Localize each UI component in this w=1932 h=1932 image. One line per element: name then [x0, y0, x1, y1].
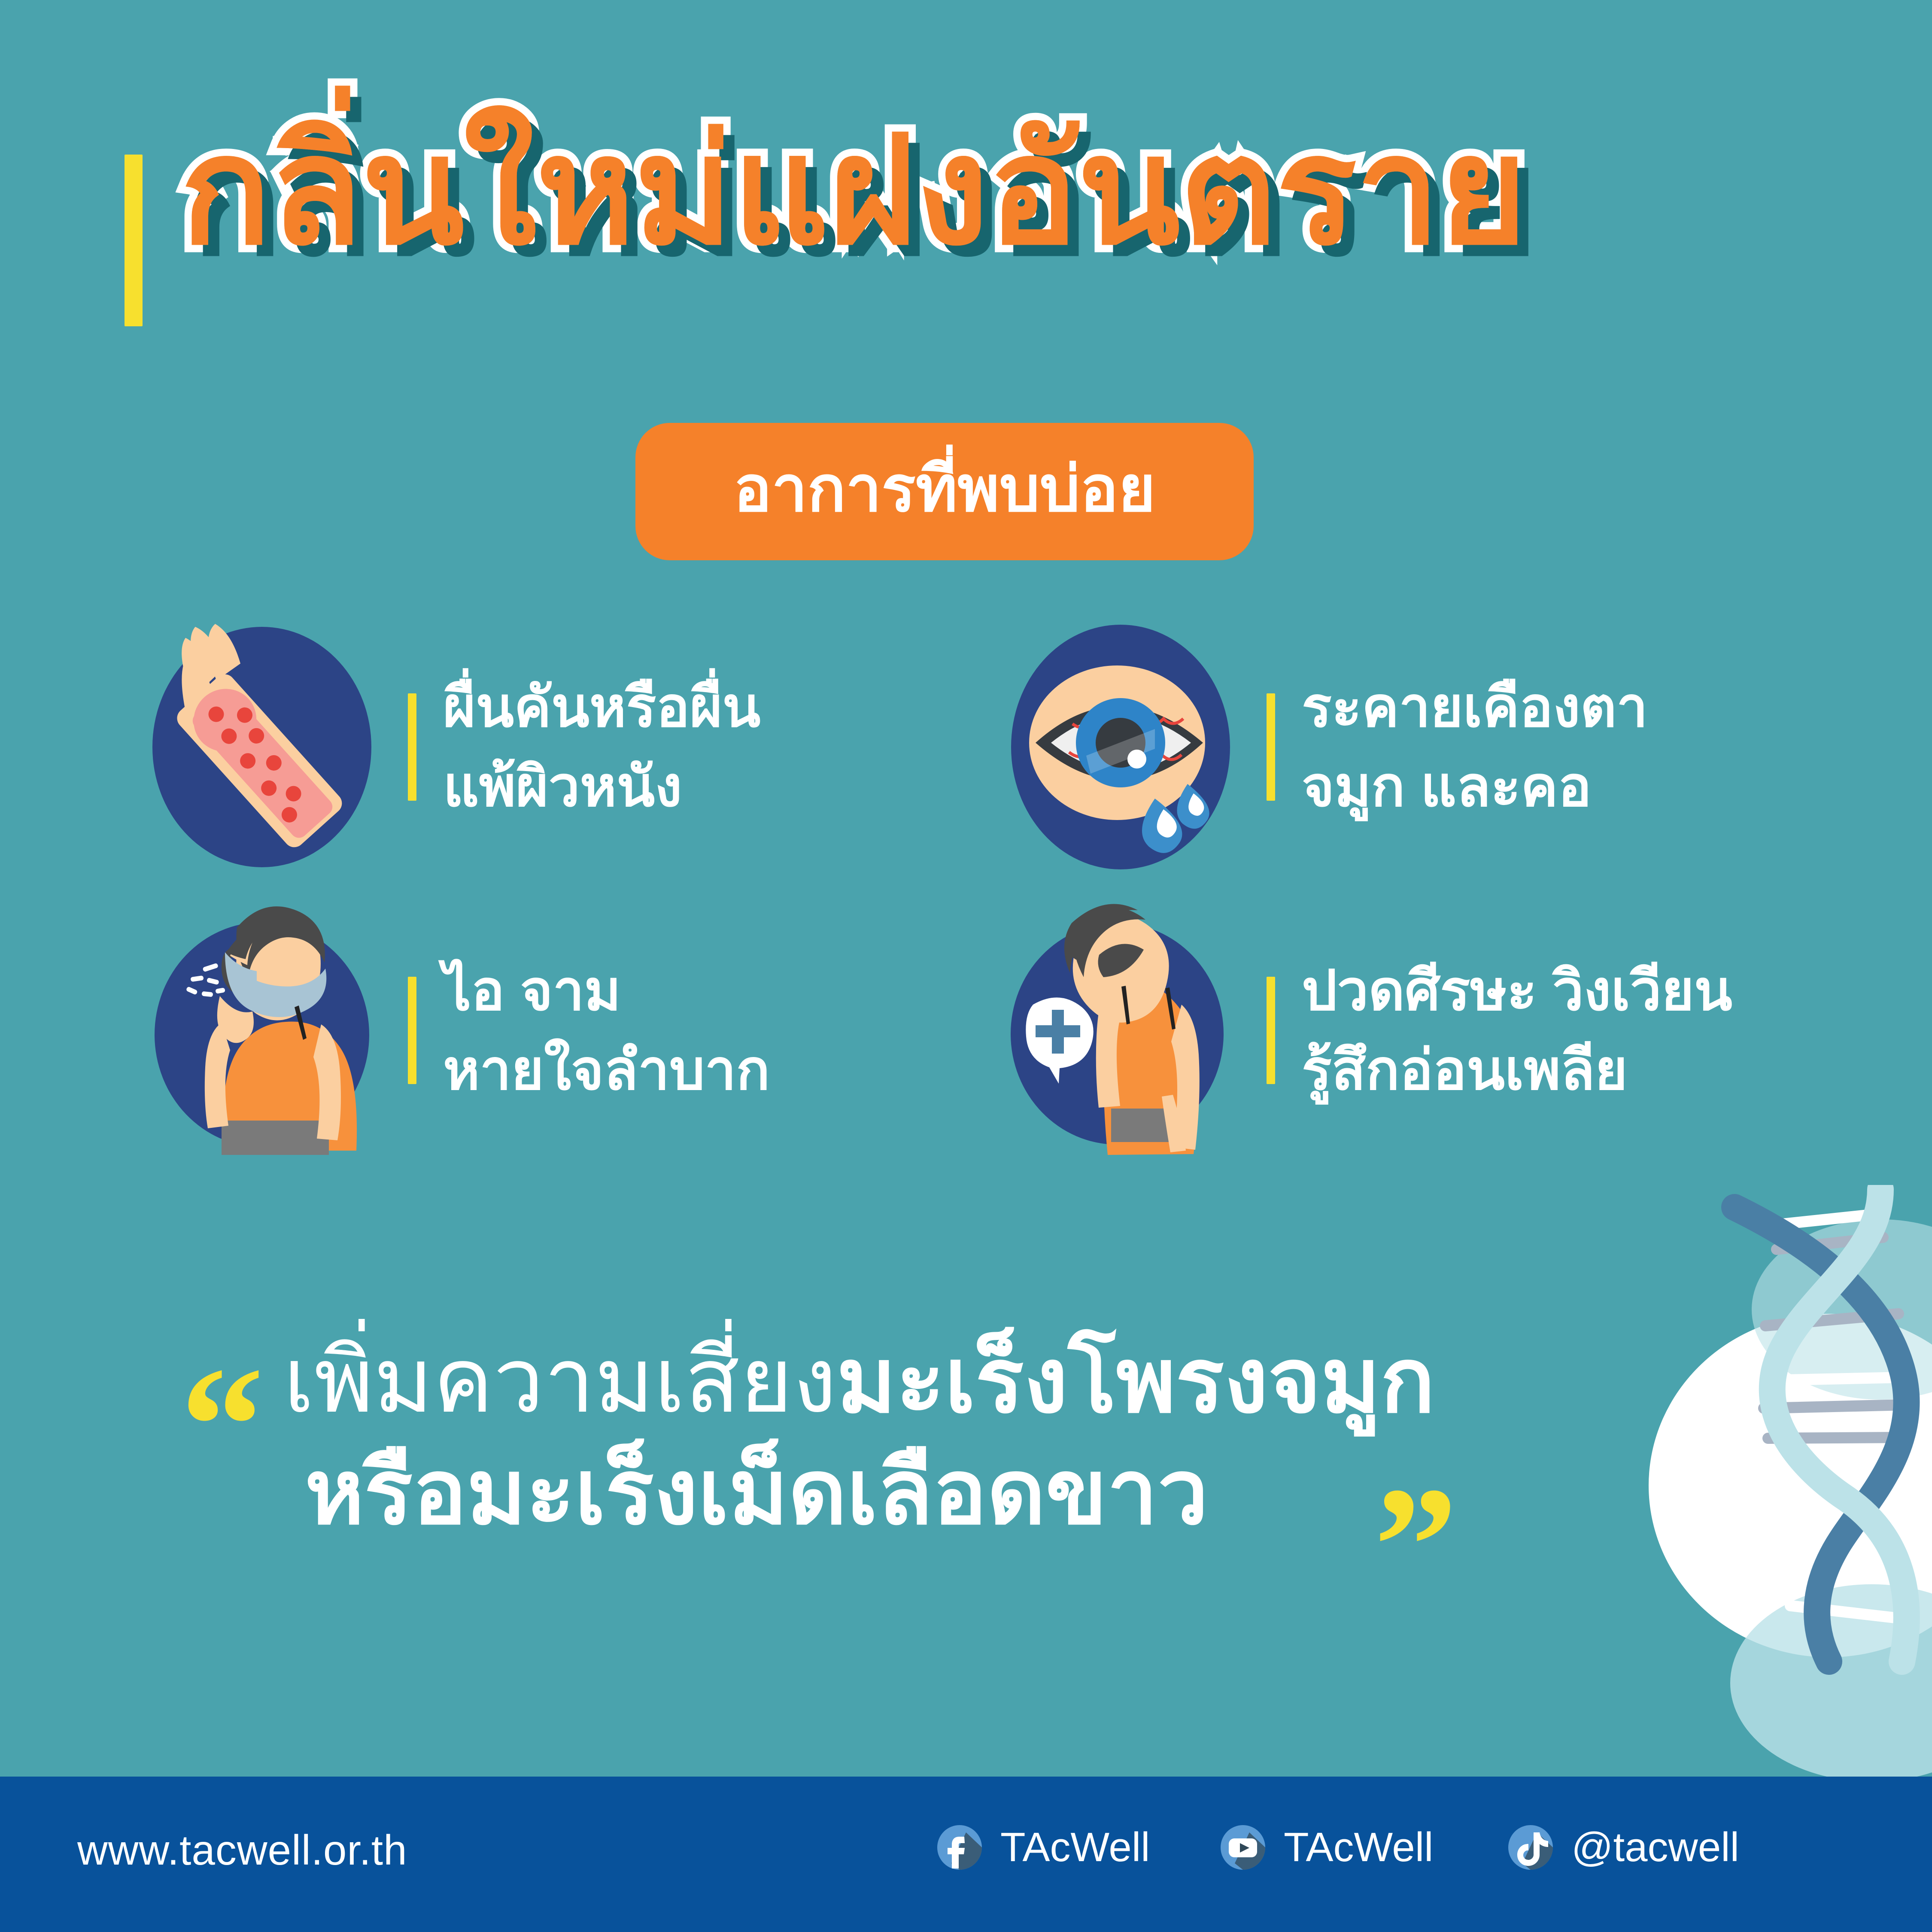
quote-line1-thin: เพิ่มความเสี่ยง — [283, 1330, 837, 1431]
quote-line-1: เพิ่มความเสี่ยงมะเร็งโพรงจมูก — [283, 1329, 1435, 1433]
symptom-labels: ปวดศีรษะ วิงเวียน รู้สึกอ่อนเพลีย — [1302, 951, 1732, 1109]
rash-arm-icon — [142, 614, 382, 880]
quote-block: “ เพิ่มความเสี่ยงมะเร็งโพรงจมูก หรือมะเร… — [0, 1312, 1932, 1612]
symptom-label-line1: ปวดศีรษะ วิงเวียน — [1302, 951, 1732, 1030]
symptom-labels: ไอ จาม หายใจลำบาก — [443, 951, 770, 1109]
social-handle: TAcWell — [1000, 1827, 1150, 1868]
header: กลิ่นใหม่แฝงอันตราย กลิ่นใหม่แฝงอันตราย — [0, 116, 1932, 356]
symptom-label-line2: รู้สึกอ่อนเพลีย — [1302, 1030, 1732, 1110]
symptom-label-line1: ระคายเคืองตา — [1302, 668, 1648, 747]
symptom-label-line1: ผื่นคันหรือผื่น — [443, 668, 761, 747]
quote-close-mark: ” — [1374, 1462, 1458, 1629]
symptom-divider — [408, 977, 416, 1084]
headache-person-icon — [1000, 897, 1241, 1163]
section-badge: อาการที่พบบ่อย — [635, 423, 1254, 560]
sneezing-person-icon — [142, 897, 382, 1163]
footer: www.tacwell.or.th TAcWell TAcW — [0, 1777, 1932, 1932]
social-link-youtube[interactable]: TAcWell — [1219, 1824, 1433, 1871]
symptom-label-line2: จมูก และคอ — [1302, 747, 1648, 826]
symptom-item: ระคายเคืองตา จมูก และคอ — [1000, 610, 1859, 884]
section-badge-label: อาการที่พบบ่อย — [734, 458, 1156, 526]
quote-line1-bold: มะเร็งโพรงจมูก — [837, 1330, 1435, 1431]
symptom-divider — [1267, 977, 1275, 1084]
symptom-divider — [1267, 693, 1275, 801]
social-handle: @tacwell — [1571, 1827, 1739, 1868]
symptom-labels: ระคายเคืองตา จมูก และคอ — [1302, 668, 1648, 826]
symptom-labels: ผื่นคันหรือผื่น แพ้ผิวหนัง — [443, 668, 761, 826]
symptom-divider — [408, 693, 416, 801]
infographic-canvas: กลิ่นใหม่แฝงอันตราย กลิ่นใหม่แฝงอันตราย … — [0, 0, 1932, 1932]
symptom-label-line1: ไอ จาม — [443, 951, 770, 1030]
irritated-eye-icon — [1000, 614, 1241, 880]
page-title-fill: กลิ่นใหม่แฝงอันตราย — [180, 116, 1855, 266]
quote-line-2: หรือมะเร็งเม็ดเลือดขาว — [305, 1440, 1209, 1544]
symptom-item: ปวดศีรษะ วิงเวียน รู้สึกอ่อนเพลีย — [1000, 893, 1859, 1168]
social-link-facebook[interactable]: TAcWell — [936, 1824, 1150, 1871]
facebook-icon — [936, 1824, 983, 1871]
symptom-label-line2: แพ้ผิวหนัง — [443, 747, 761, 826]
symptom-item: ผื่นคันหรือผื่น แพ้ผิวหนัง — [142, 610, 1000, 884]
tiktok-icon — [1507, 1824, 1554, 1871]
symptom-item: ไอ จาม หายใจลำบาก — [142, 893, 1000, 1168]
social-handle: TAcWell — [1284, 1827, 1433, 1868]
youtube-icon — [1219, 1824, 1267, 1871]
title-accent-bar — [125, 155, 143, 326]
website-url[interactable]: www.tacwell.or.th — [77, 1829, 407, 1871]
symptom-grid: ผื่นคันหรือผื่น แพ้ผิวหนัง — [0, 610, 1932, 1194]
quote-open-mark: “ — [180, 1342, 264, 1509]
social-link-tiktok[interactable]: @tacwell — [1507, 1824, 1739, 1871]
symptom-label-line2: หายใจลำบาก — [443, 1030, 770, 1110]
